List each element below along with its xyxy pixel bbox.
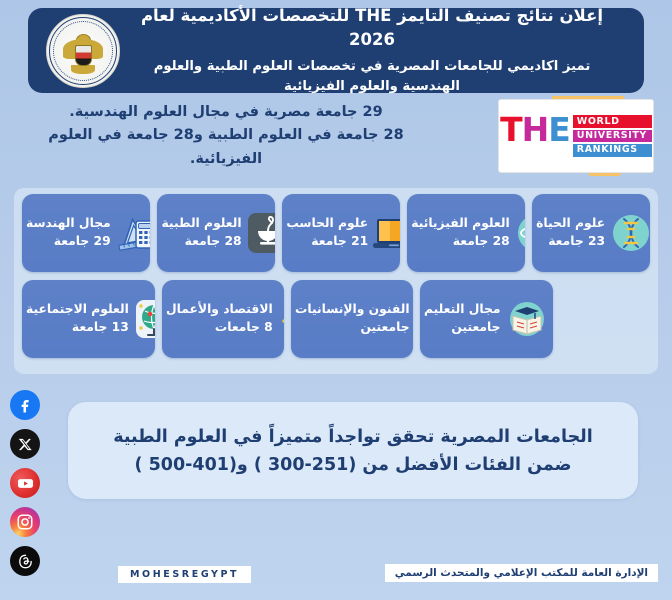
youtube-icon[interactable] [10, 468, 40, 498]
category-count: 28 جامعة [411, 234, 509, 250]
header-subtitle: تميز اكاديمي للجامعات المصرية في تخصصات … [124, 57, 620, 97]
category-card-education[interactable]: مجال التعليم جامعتين [420, 280, 553, 358]
social-media-rail [8, 390, 42, 576]
header-text-block: إعلان نتائج تصنيف التايمز THE للتخصصات ا… [120, 4, 634, 96]
summary-line-1: 29 جامعة مصرية في مجال العلوم الهندسية. [14, 101, 438, 124]
category-count: 8 جامعات [166, 320, 273, 336]
category-card-social-sciences[interactable]: العلوم الاجتماعية 13 جامعة [22, 280, 155, 358]
threads-icon[interactable] [10, 546, 40, 576]
category-title: علوم الحاسب [286, 216, 368, 232]
category-count: جامعتين [424, 320, 501, 336]
category-title: العلوم الطبية [161, 216, 241, 232]
categories-row-2: العلوم الاجتماعية 13 جامعة [22, 280, 650, 358]
the-word-rankings: RANKINGS [573, 144, 652, 157]
categories-panel: مجال الهندسة 29 جامعة [14, 188, 658, 374]
globe-icon [132, 296, 155, 342]
atom-icon [513, 210, 525, 256]
summary-text-block: 29 جامعة مصرية في مجال العلوم الهندسية. … [14, 101, 498, 171]
category-card-medical-sciences[interactable]: العلوم الطبية 28 جامعة [157, 194, 275, 272]
highlight-line-1: الجامعات المصرية تحقق تواجداً متميزاً في… [113, 423, 593, 451]
category-count: 23 جامعة [536, 234, 605, 250]
highlight-line-2: ضمن الفئات الأفضل من (251-300 ) و(401-50… [135, 451, 572, 479]
category-card-business-economics[interactable]: الاقتصاد والأعمال 8 جامعات [162, 280, 284, 358]
the-word-world: WORLD [573, 115, 652, 128]
bowl-of-hygieia-icon [245, 210, 276, 256]
department-label: الإدارة العامة للمكتب الإعلامي والمتحدث … [385, 564, 658, 582]
laptop-icon [371, 210, 400, 256]
highlight-banner: الجامعات المصرية تحقق تواجداً متميزاً في… [68, 402, 638, 499]
category-title: العلوم الفيزيائية [411, 216, 509, 232]
the-world-university-rankings-logo: T H E WORLD UNIVERSITY RANKINGS [498, 99, 654, 173]
category-title: الاقتصاد والأعمال [166, 302, 273, 318]
x-twitter-icon[interactable] [10, 429, 40, 459]
open-book-icon [504, 296, 550, 342]
categories-row-1: مجال الهندسة 29 جامعة [22, 194, 650, 272]
category-count: 21 جامعة [286, 234, 368, 250]
category-card-life-sciences[interactable]: علوم الحياة 23 جامعة [532, 194, 650, 272]
header-banner: إعلان نتائج تصنيف التايمز THE للتخصصات ا… [28, 8, 644, 93]
bar-chart-icon [276, 296, 284, 342]
header-title: إعلان نتائج تصنيف التايمز THE للتخصصات ا… [124, 4, 620, 52]
category-card-computer-science[interactable]: علوم الحاسب 21 جامعة [282, 194, 400, 272]
summary-line-2: 28 جامعة في العلوم الطبية و28 جامعة في ا… [14, 124, 438, 171]
category-card-physical-sciences[interactable]: العلوم الفيزيائية 28 جامعة [407, 194, 525, 272]
ministry-of-higher-education-emblem-icon [46, 14, 120, 88]
facebook-icon[interactable] [10, 390, 40, 420]
category-title: علوم الحياة [536, 216, 605, 232]
the-letter-t: T [500, 115, 522, 157]
the-wordmark: T H E [500, 115, 570, 157]
ruler-calculator-icon [114, 210, 151, 256]
category-title: مجال الهندسة [26, 216, 111, 232]
instagram-icon[interactable] [10, 507, 40, 537]
the-letter-e: E [548, 115, 570, 157]
the-word-university: UNIVERSITY [573, 130, 652, 143]
social-handle-label: MOHESREGYPT [118, 566, 251, 583]
category-count: جامعتين [295, 320, 410, 336]
category-count: 13 جامعة [26, 320, 129, 336]
infographic-page: إعلان نتائج تصنيف التايمز THE للتخصصات ا… [0, 0, 672, 600]
category-title: مجال التعليم [424, 302, 501, 318]
dna-icon [608, 210, 650, 256]
category-title: العلوم الاجتماعية [26, 302, 129, 318]
category-count: 28 جامعة [161, 234, 241, 250]
summary-strip: T H E WORLD UNIVERSITY RANKINGS 29 جامعة… [14, 92, 658, 180]
category-card-arts-humanities[interactable]: الفنون والإنسانيات جامعتين [291, 280, 413, 358]
category-title: الفنون والإنسانيات [295, 302, 410, 318]
category-count: 29 جامعة [26, 234, 111, 250]
category-card-engineering[interactable]: مجال الهندسة 29 جامعة [22, 194, 150, 272]
the-letter-h: H [522, 115, 549, 157]
